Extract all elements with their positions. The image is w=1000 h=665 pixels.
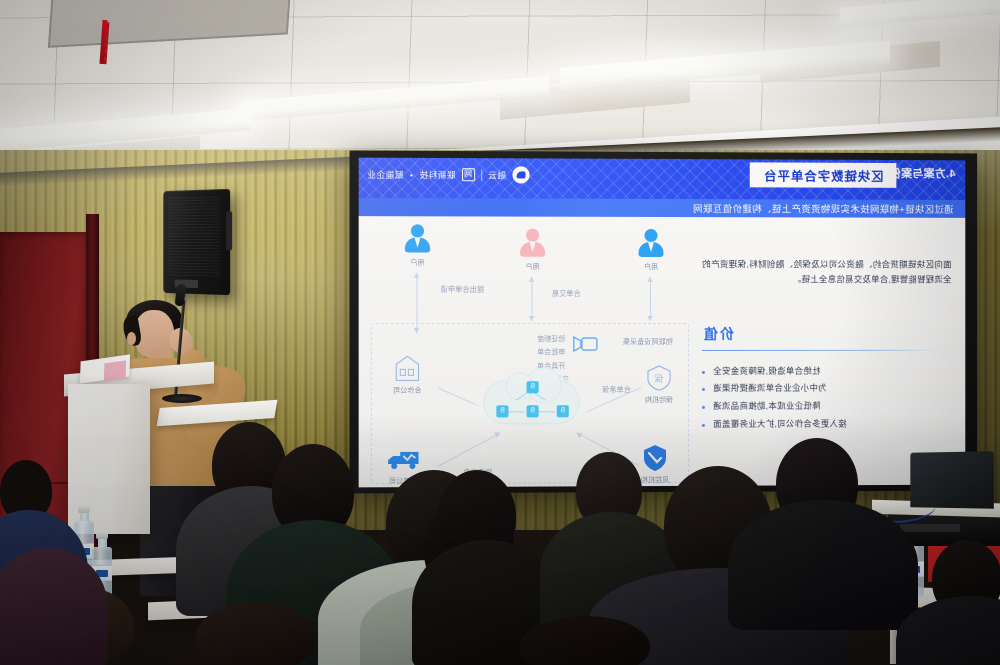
blockchain-node: B (557, 405, 569, 417)
av-slot (900, 524, 960, 532)
actor-center: 用户 (510, 229, 554, 272)
delivery-truck-icon (377, 444, 430, 474)
bottle-neck (80, 513, 89, 521)
list-item: 为中小企业合单流通提供渠道 (702, 380, 952, 398)
user-avatar-icon (638, 229, 664, 259)
shield-award-icon: 保 (633, 363, 685, 393)
podium-pink-document (104, 360, 126, 381)
bank-building-icon (381, 353, 434, 383)
speaker-side-handle (226, 211, 232, 250)
slide-subtitle-bar: 通过区块链+物联网技术实现物资资产上链、构建价值互联网 (359, 198, 966, 218)
node-link (508, 411, 524, 412)
slide-title-chip: 区块链数字合单平台 (750, 162, 896, 187)
slide-section-tag: 4.方案与案例 (889, 165, 955, 181)
slide-architecture-diagram: 用户 用户 用户 (365, 224, 697, 486)
bottle-cap (96, 532, 108, 539)
slide-text-column: 面向区块链期货合约、融资公司以及保险、融创财料,保理资产的全流程智能管理,合单及… (702, 257, 952, 434)
conference-photo-scene: 4.方案与案例 区块链数字合单平台 融云 网 联新科技 • 赋能企业 通过区块链… (0, 0, 1000, 665)
slide-content-mirrored: 4.方案与案例 区块链数字合单平台 融云 网 联新科技 • 赋能企业 通过区块链… (359, 158, 966, 488)
user-avatar-icon (404, 224, 430, 254)
shield-check-icon (629, 443, 681, 473)
pa-speaker (163, 189, 230, 295)
brand-tagline: 赋能企业 (367, 168, 404, 180)
list-item: 杜绝合单造假,保障资金安全 (702, 362, 952, 380)
blockchain-cloud-platform: B B B B (472, 367, 591, 438)
actor-label: 用户 (395, 258, 440, 268)
brand-dot: • (409, 169, 413, 179)
svg-text:保: 保 (655, 373, 664, 384)
bottle-neck (98, 539, 107, 547)
actor-label: 用户 (510, 262, 554, 272)
rongyun-logo-icon (512, 166, 529, 183)
process-step: 审批合单 (534, 346, 569, 359)
process-step: 验证额度 (534, 333, 569, 346)
actor-label: 用户 (629, 262, 673, 272)
logo-divider (481, 169, 482, 181)
brand-logo: 融云 网 联新科技 • 赋能企业 (367, 166, 529, 184)
slide-body: 面向区块链期货合约、融资公司以及保险、融创财料,保理资产的全流程智能管理,合单及… (359, 216, 966, 487)
speaker-grille (168, 195, 220, 276)
user-avatar-icon (520, 229, 546, 259)
list-item: 降低企业成本,助推商品流通 (702, 398, 952, 416)
flow-arrow (650, 277, 651, 321)
microphone-base (162, 394, 202, 403)
list-item: 接入更多合作公司,扩大业务覆盖面 (702, 415, 952, 433)
display-panel: 4.方案与案例 区块链数字合单平台 融云 网 联新科技 • 赋能企业 通过区块链… (359, 158, 966, 488)
network-mark-icon: 网 (462, 168, 475, 181)
slide-value-heading: 价值 (702, 324, 952, 344)
brand-secondary-label: 联新科技 (419, 168, 455, 180)
blockchain-node: B (527, 381, 539, 393)
node-label: 合作公司 (381, 385, 434, 395)
blockchain-node: B (527, 405, 539, 417)
node-label: 保险机构 (633, 395, 685, 405)
brand-primary-label: 融云 (488, 169, 506, 181)
bottle-cap (78, 506, 90, 513)
presenter-ear (127, 332, 136, 345)
node-bank: 合作公司 (381, 353, 434, 395)
iot-device-label: 物联网设备采集 (623, 337, 673, 347)
actor-right: 用户 (395, 224, 440, 267)
slide-value-rule (702, 349, 952, 350)
node-link (539, 411, 555, 412)
edge-label-right: 提出合单申请 (441, 285, 485, 295)
flow-arrow (532, 277, 533, 321)
edge-label-center: 合单交易 (552, 289, 581, 299)
slide-header: 4.方案与案例 区块链数字合单平台 融云 网 联新科技 • 赋能企业 (359, 158, 966, 200)
blockchain-node: B (496, 405, 508, 417)
actor-left: 用户 (629, 229, 673, 272)
presentation-display[interactable]: 4.方案与案例 区块链数字合单平台 融云 网 联新科技 • 赋能企业 通过区块链… (350, 151, 978, 494)
node-insurance: 保 保险机构 (633, 363, 685, 405)
slide-lead-paragraph: 面向区块链期货合约、融资公司以及保险、融创财料,保理资产的全流程智能管理,合单及… (702, 257, 952, 288)
slide-value-bullets: 杜绝合单造假,保障资金安全 为中小企业合单流通提供渠道 降低企业成本,助推商品流… (702, 362, 952, 434)
